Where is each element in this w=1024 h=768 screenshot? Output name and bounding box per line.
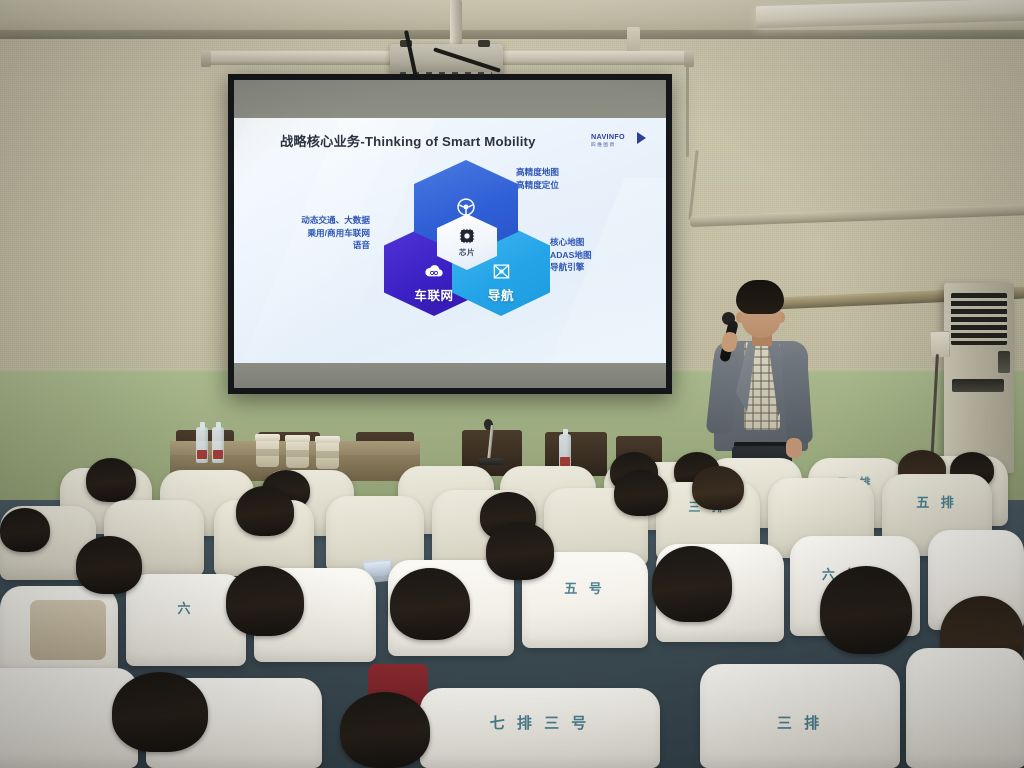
projector-mount-arm: [450, 0, 462, 46]
water-bottle-1: [196, 427, 208, 463]
seat-label: 五 排: [882, 492, 992, 511]
ac-vent-slot: [952, 379, 1004, 392]
seat: [906, 648, 1024, 768]
paper-cup-1: [256, 437, 279, 467]
cup-band-2: [286, 450, 309, 457]
callout-bottom-right: 核心地图 ADAS地图 导航引擎: [550, 236, 592, 274]
screen-bottom-margin: [234, 363, 666, 388]
floor-ac-unit: [944, 283, 1014, 473]
audience-head: [652, 546, 732, 622]
cup-band-1: [256, 449, 279, 456]
audience-head: [390, 568, 470, 640]
seat-label: 三 排: [700, 712, 900, 733]
screen-top-margin: [234, 80, 666, 118]
seat: 七 排 三 号: [420, 688, 660, 768]
ac-control-panel: [998, 351, 1010, 373]
wall-plate: [627, 27, 640, 53]
paper-cup-2: [286, 438, 309, 468]
cup-band-3: [316, 451, 339, 458]
hexagon-label-navigation: 导航: [488, 285, 514, 304]
audience-head: [226, 566, 304, 636]
slide-title: 战略核心业务-Thinking of Smart Mobility: [280, 131, 536, 150]
projector-knob-right: [478, 40, 490, 47]
screen-surface: 战略核心业务-Thinking of Smart Mobility NAVINF…: [234, 80, 666, 388]
wall-cable: [686, 52, 689, 157]
audience-head: [236, 486, 294, 536]
callout-left: 动态交通、大数据 乘用/商用车联网 语音: [258, 214, 370, 252]
microphone-base: [478, 458, 504, 465]
wall-outlet: [930, 331, 950, 357]
cup-lid-3: [315, 436, 340, 443]
audience-head: [0, 508, 50, 552]
logo-wordmark: NAVINFO: [591, 132, 643, 141]
callout-bottom-right-line-2: ADAS地图: [550, 249, 592, 262]
callout-bottom-right-line-3: 导航引擎: [550, 261, 592, 274]
audience-head: [486, 522, 554, 580]
callout-left-line-2: 乘用/商用车联网: [258, 227, 370, 240]
audience-head: [340, 692, 430, 768]
roller-end-left: [201, 51, 211, 67]
seat-label: 七 排 三 号: [420, 712, 660, 733]
ceiling-beam: [0, 30, 1024, 39]
audience-head: [692, 466, 744, 510]
callout-bottom-right-line-1: 核心地图: [550, 236, 592, 249]
audience-head: [86, 458, 136, 502]
slide-content: 战略核心业务-Thinking of Smart Mobility NAVINF…: [234, 118, 666, 363]
projection-screen: 战略核心业务-Thinking of Smart Mobility NAVINF…: [228, 74, 672, 394]
presenter-hand-right: [786, 438, 802, 458]
navinfo-logo: NAVINFO 四维图新: [591, 132, 643, 152]
presenter: [700, 280, 820, 480]
arrow-right-icon: [637, 132, 646, 144]
hexagon-label-connected-vehicle: 车联网: [414, 285, 453, 304]
audience-head: [76, 536, 142, 594]
audience-head: [820, 566, 912, 654]
logo-chinese: 四维图新: [591, 142, 643, 148]
cloud-icon: [423, 260, 445, 282]
seat-label: 五 号: [522, 578, 648, 597]
navigation-icon: [490, 260, 512, 282]
presenter-arm-right: [781, 351, 813, 445]
audience-head: [614, 470, 668, 516]
callout-left-line-3: 语音: [258, 239, 370, 252]
callout-left-line-1: 动态交通、大数据: [258, 214, 370, 227]
audience-head: [112, 672, 208, 752]
roller-end-right: [684, 51, 694, 67]
chip-icon: [458, 226, 477, 245]
water-bottle-3: [559, 434, 571, 470]
cup-lid-1: [255, 434, 280, 441]
hexagon-label-chip: 芯片: [459, 247, 475, 258]
cup-lid-2: [285, 435, 310, 442]
hexagon-diagram: 自动驾驶 车联网: [384, 160, 544, 335]
water-bottle-2: [212, 427, 224, 463]
ac-grille: [951, 293, 1007, 345]
lecture-hall-photo: 战略核心业务-Thinking of Smart Mobility NAVINF…: [0, 0, 1024, 768]
audience-person: [30, 600, 106, 660]
presenter-hair: [736, 280, 784, 314]
seat: 三 排: [700, 664, 900, 768]
paper-cup-3: [316, 439, 339, 469]
